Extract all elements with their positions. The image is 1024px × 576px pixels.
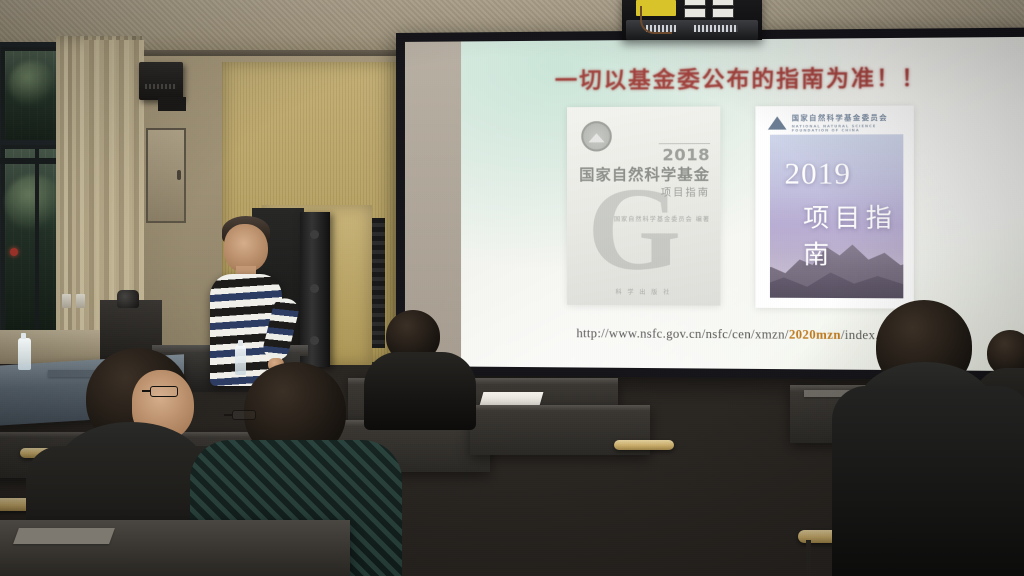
nsfc-logo-text: 国家自然科学基金委员会 bbox=[792, 113, 914, 124]
paper-cup bbox=[76, 294, 85, 308]
slide-title: 一切以基金委公布的指南为准！！ bbox=[461, 60, 1024, 96]
nsfc-logo: 国家自然科学基金委员会 NATIONAL NATURAL SCIENCE FOU… bbox=[768, 113, 914, 133]
presenter-face bbox=[224, 224, 268, 272]
cover-photo: 2019 项目指南 bbox=[770, 134, 903, 298]
book-year: 2018 bbox=[662, 145, 710, 164]
tree-foliage bbox=[5, 175, 63, 231]
chair-backrest bbox=[614, 440, 674, 450]
attendee-torso bbox=[832, 386, 1024, 576]
nsfc-logo-subtext: NATIONAL NATURAL SCIENCE FOUNDATION OF C… bbox=[792, 124, 914, 133]
water-bottle bbox=[18, 338, 31, 370]
divider bbox=[659, 143, 710, 144]
wall-control-panel[interactable] bbox=[146, 128, 186, 223]
glasses-icon bbox=[232, 410, 256, 420]
book-publisher: 科 学 出 版 社 bbox=[567, 287, 720, 297]
slide-book-covers: G 2018 国家自然科学基金 项目指南 国家自然科学基金委员会 编著 科 学 … bbox=[461, 105, 1024, 311]
equipment-rack bbox=[300, 212, 330, 367]
window-mullion bbox=[35, 149, 39, 336]
nsfc-triangle-icon bbox=[768, 116, 787, 129]
projector-cable bbox=[640, 6, 672, 34]
url-prefix: http://www.nsfc.gov.cn/nsfc/cen/xmzn/ bbox=[576, 326, 788, 342]
cover-year: 2019 bbox=[784, 157, 851, 192]
electric-kettle bbox=[117, 290, 139, 308]
handout-paper bbox=[13, 528, 115, 544]
mountain-seal-icon bbox=[581, 121, 612, 151]
glasses-icon bbox=[150, 386, 178, 397]
speaker-mount bbox=[158, 97, 186, 111]
cover-title: 项目指南 bbox=[803, 198, 903, 272]
paper-cup bbox=[62, 294, 71, 308]
lecture-room-photo: 一切以基金委公布的指南为准！！ G 2018 国家自然科学基金 项目指南 国家自… bbox=[0, 0, 1024, 576]
book-cover-2019: 国家自然科学基金委员会 NATIONAL NATURAL SCIENCE FOU… bbox=[755, 106, 913, 309]
book-sub-title: 项目指南 bbox=[661, 184, 710, 199]
attendee-right-hoodie bbox=[838, 300, 1024, 576]
chair-leg bbox=[806, 540, 811, 576]
book-main-title: 国家自然科学基金 bbox=[579, 163, 710, 184]
wall-speaker bbox=[139, 62, 183, 100]
url-highlight: 2020mzn bbox=[789, 327, 841, 342]
power-indicator-led bbox=[10, 248, 18, 256]
book-cover-2018: G 2018 国家自然科学基金 项目指南 国家自然科学基金委员会 编著 科 学 … bbox=[567, 106, 720, 305]
tree-foliage bbox=[9, 61, 55, 107]
book-org: 国家自然科学基金委员会 编著 bbox=[614, 214, 710, 223]
